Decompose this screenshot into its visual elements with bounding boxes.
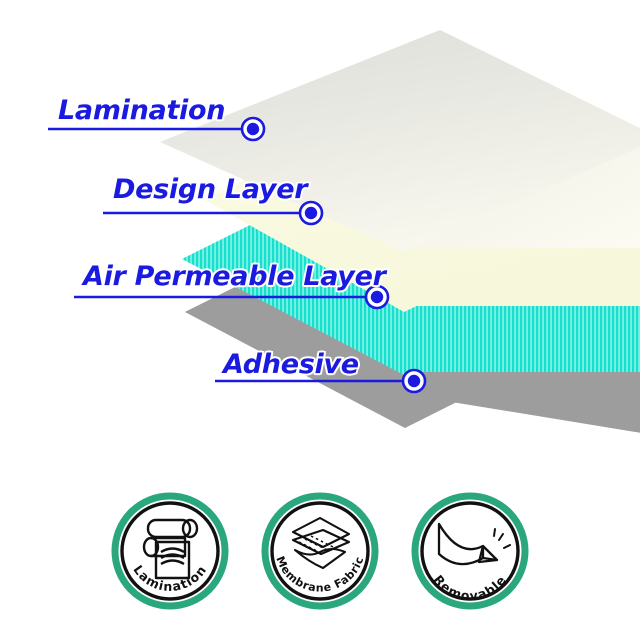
layer-label-adhesive: Adhesive xyxy=(223,349,359,380)
feature-badge-lamination: Lamination xyxy=(111,492,229,610)
feature-badge-row: Lamination xyxy=(0,492,640,620)
layer-label-air-permeable-layer: Air Permeable Layer xyxy=(83,261,386,292)
marker-core-air-permeable-layer xyxy=(371,291,383,303)
infographic-stage: Lamination Design Layer Air Permeable La… xyxy=(0,0,640,640)
marker-core-adhesive xyxy=(408,375,420,387)
layer-label-design-layer: Design Layer xyxy=(113,174,307,205)
layer-label-lamination: Lamination xyxy=(58,95,225,126)
feature-badge-removable: Removable xyxy=(411,492,529,610)
marker-core-lamination xyxy=(247,123,259,135)
feature-badge-membrane-fabric: Membrane Fabric xyxy=(261,492,379,610)
marker-core-design-layer xyxy=(305,207,317,219)
layer-shape-lamination xyxy=(160,30,640,252)
